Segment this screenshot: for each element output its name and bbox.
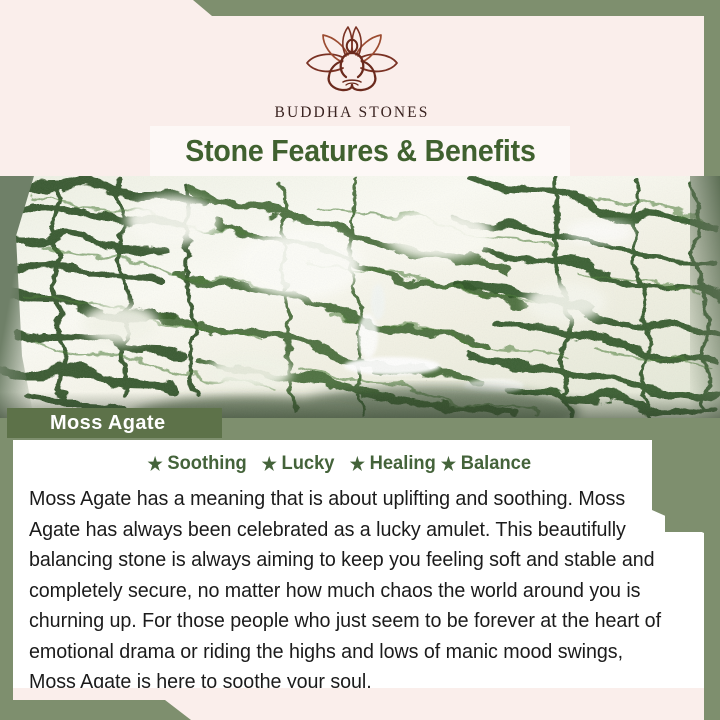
benefit-item-balance: ★ Balance: [441, 452, 531, 475]
star-icon: ★: [262, 455, 277, 473]
headline-banner: Stone Features & Benefits: [150, 126, 570, 176]
stone-description: Moss Agate has a meaning that is about u…: [29, 484, 666, 698]
star-icon: ★: [147, 455, 162, 473]
benefit-item-healing: ★ Healing: [350, 452, 436, 475]
page-title: Stone Features & Benefits: [185, 133, 535, 169]
benefits-row: ★ Soothing ★ Lucky ★ Healing ★ Balance: [13, 452, 665, 475]
stone-photo: [0, 176, 720, 418]
lotus-meditation-icon: [294, 22, 410, 98]
benefit-label: Soothing: [167, 452, 246, 475]
stone-name: Moss Agate: [50, 412, 166, 435]
stone-name-tag: Moss Agate: [7, 408, 222, 438]
stone-edge-right: [690, 176, 720, 418]
moss-agate-texture-icon: [0, 176, 720, 418]
benefit-item-lucky: ★ Lucky: [262, 452, 344, 475]
benefit-label: Healing: [369, 452, 435, 475]
star-icon: ★: [441, 455, 456, 473]
footer-accent: [13, 688, 704, 720]
benefit-label: Lucky: [282, 452, 335, 475]
star-icon: ★: [350, 455, 365, 473]
brand-logo: BUDDHA STONES: [0, 22, 704, 122]
brand-name: BUDDHA STONES: [275, 104, 430, 122]
header-panel: BUDDHA STONES Stone Features & Benefits: [0, 0, 704, 176]
infographic-page: BUDDHA STONES Stone Features & Benefits: [0, 0, 720, 720]
benefit-item-soothing: ★ Soothing: [147, 452, 256, 475]
benefit-label: Balance: [461, 452, 531, 475]
